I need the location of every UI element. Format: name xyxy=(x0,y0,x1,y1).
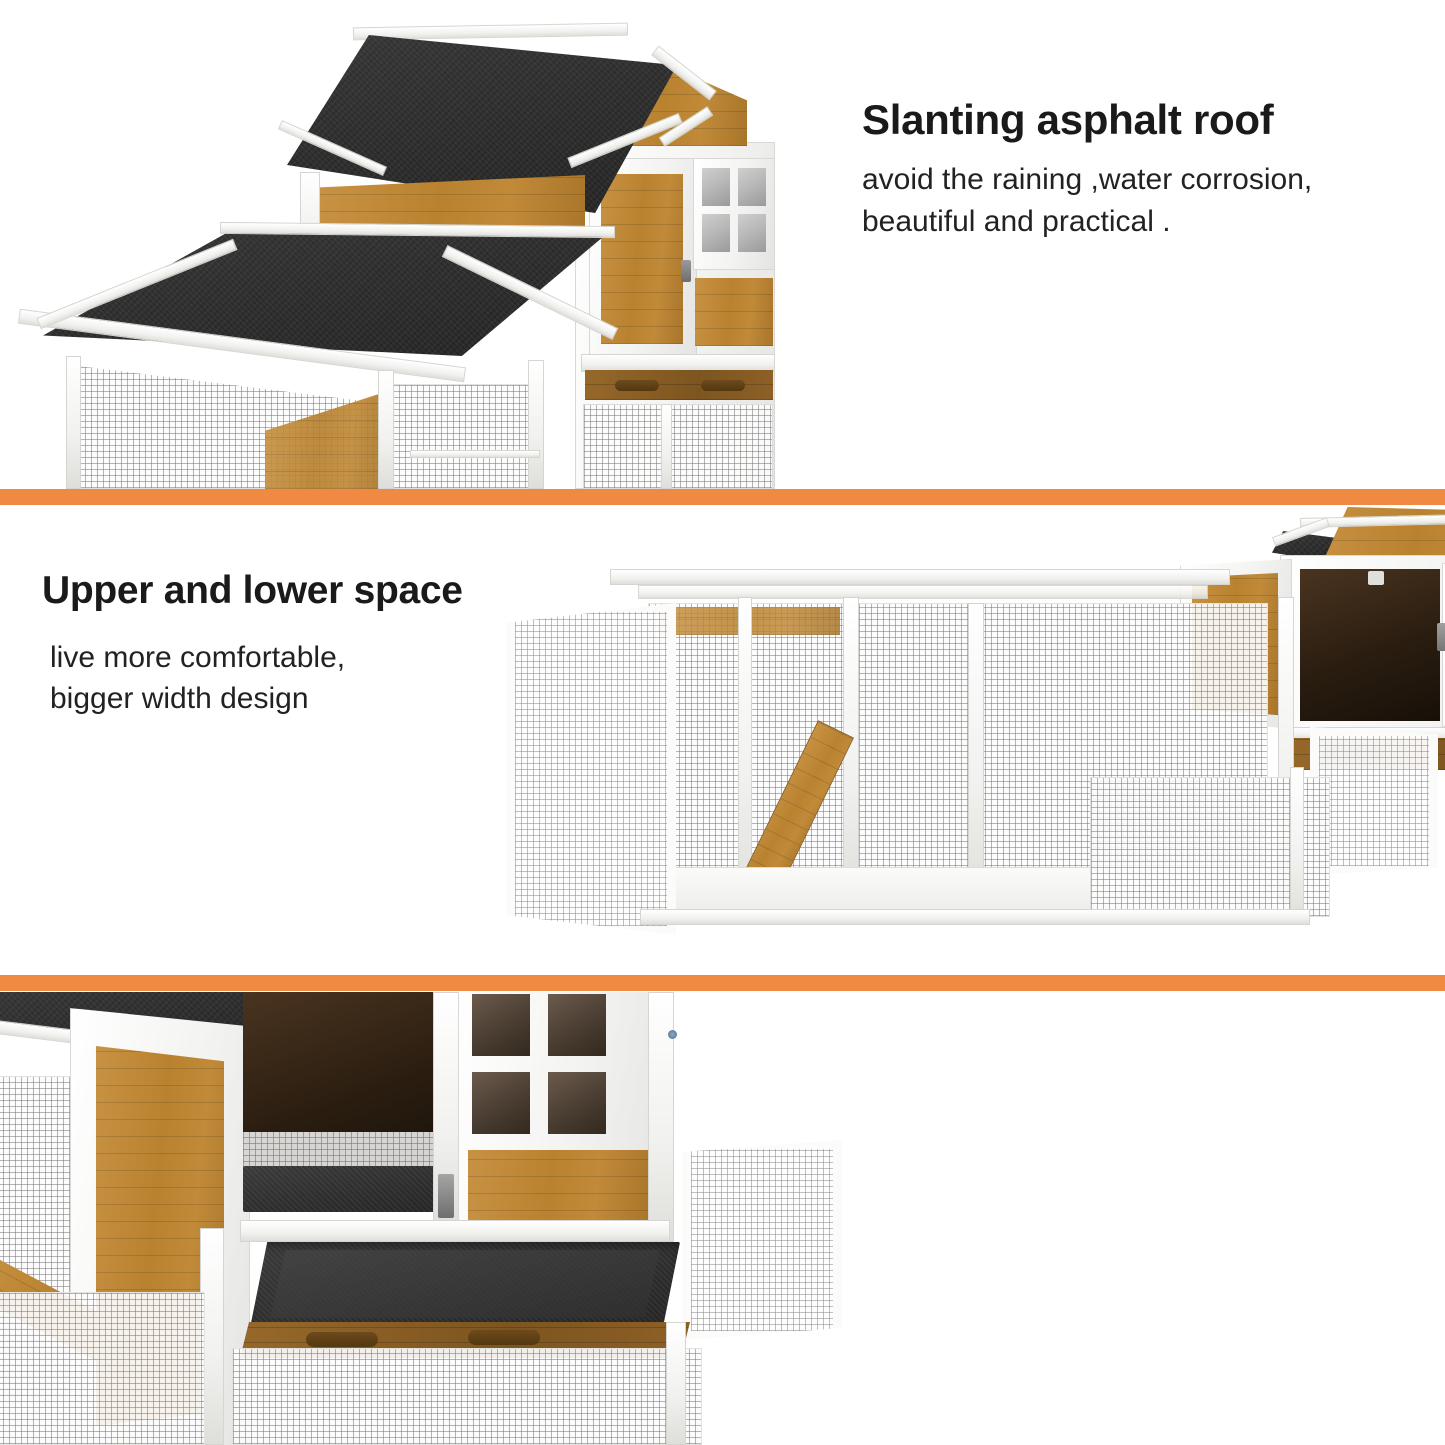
run-post-mid xyxy=(378,370,394,489)
lower-run-mesh xyxy=(583,404,773,489)
pullout-drawer-group xyxy=(240,1220,690,1350)
feature-panel-upper-lower-space: Upper and lower space live more comforta… xyxy=(0,505,1445,975)
run-floor-ledge xyxy=(410,450,540,458)
drawer-handle xyxy=(306,1332,378,1347)
panel-1-body-line: avoid the raining ,water corrosion, xyxy=(862,159,1422,201)
base-rail xyxy=(640,909,1310,925)
feature-panel-pullzinc-drawer: Double-deck pullzinc drawer blowout prev… xyxy=(0,992,1445,1445)
window-pane xyxy=(472,1072,530,1134)
interior-opening-group xyxy=(243,992,443,1222)
interior-mesh-floor xyxy=(243,1132,443,1168)
panel-2-headline: Upper and lower space xyxy=(42,567,562,615)
divider-top xyxy=(0,489,1445,505)
side-wood-panel xyxy=(695,278,773,346)
drawer-support-rail xyxy=(240,1220,670,1242)
panel-1-body-line: beautiful and practical . xyxy=(862,201,1422,243)
product-image-hutch-roof xyxy=(0,0,830,489)
panel-2-body-line: bigger width design xyxy=(50,678,562,719)
feature-panel-slanting-roof: Slanting asphalt roof avoid the raining … xyxy=(0,0,1445,489)
product-image-hutch-open xyxy=(490,505,1445,975)
left-run-group xyxy=(40,330,600,489)
lower-right-post xyxy=(1290,767,1304,922)
divider-bottom xyxy=(0,975,1445,991)
window-pane xyxy=(548,994,606,1056)
right-door-wood-panel xyxy=(468,1150,650,1228)
door-latch-icon xyxy=(1437,623,1445,651)
right-closed-door xyxy=(458,992,663,1232)
house-interior-opening xyxy=(1300,569,1440,721)
panel-1-headline: Slanting asphalt roof xyxy=(862,95,1422,145)
run-post-left xyxy=(66,356,81,489)
run-post xyxy=(968,603,984,903)
center-run-mesh xyxy=(392,384,532,489)
lower-run-post-right xyxy=(666,1322,686,1445)
infographic-page: Slanting asphalt roof avoid the raining … xyxy=(0,0,1445,1445)
panel-2-text-block: Upper and lower space live more comforta… xyxy=(42,567,562,719)
interior-hook-icon xyxy=(1368,571,1384,585)
product-image-drawer-detail xyxy=(0,992,900,1445)
lower-post xyxy=(661,404,672,489)
drawer-handle xyxy=(701,380,745,391)
lower-run-mesh xyxy=(232,1348,702,1445)
panel-2-body-line: live more comfortable, xyxy=(50,637,562,678)
right-open-mesh-door xyxy=(682,1140,842,1340)
window-pane xyxy=(472,994,530,1056)
zinc-tray-inner-lip xyxy=(270,1250,660,1318)
window-pane xyxy=(738,168,766,206)
drawer-handle xyxy=(468,1330,540,1345)
panel-1-text-block: Slanting asphalt roof avoid the raining … xyxy=(862,95,1422,243)
left-open-mesh-door xyxy=(506,603,676,935)
left-lower-mesh xyxy=(0,1292,205,1445)
panel-1-body: avoid the raining ,water corrosion, beau… xyxy=(862,159,1422,243)
door-latch-icon xyxy=(438,1174,454,1218)
window-pane xyxy=(548,1072,606,1134)
window-pane xyxy=(738,214,766,252)
upper-house-body xyxy=(1280,555,1445,735)
shelter-roof-top xyxy=(610,569,1230,585)
run-post-right xyxy=(528,360,544,489)
panel-2-body: live more comfortable, bigger width desi… xyxy=(42,637,562,719)
screw-icon xyxy=(668,1030,677,1039)
interior-tray-edge xyxy=(243,1166,443,1212)
